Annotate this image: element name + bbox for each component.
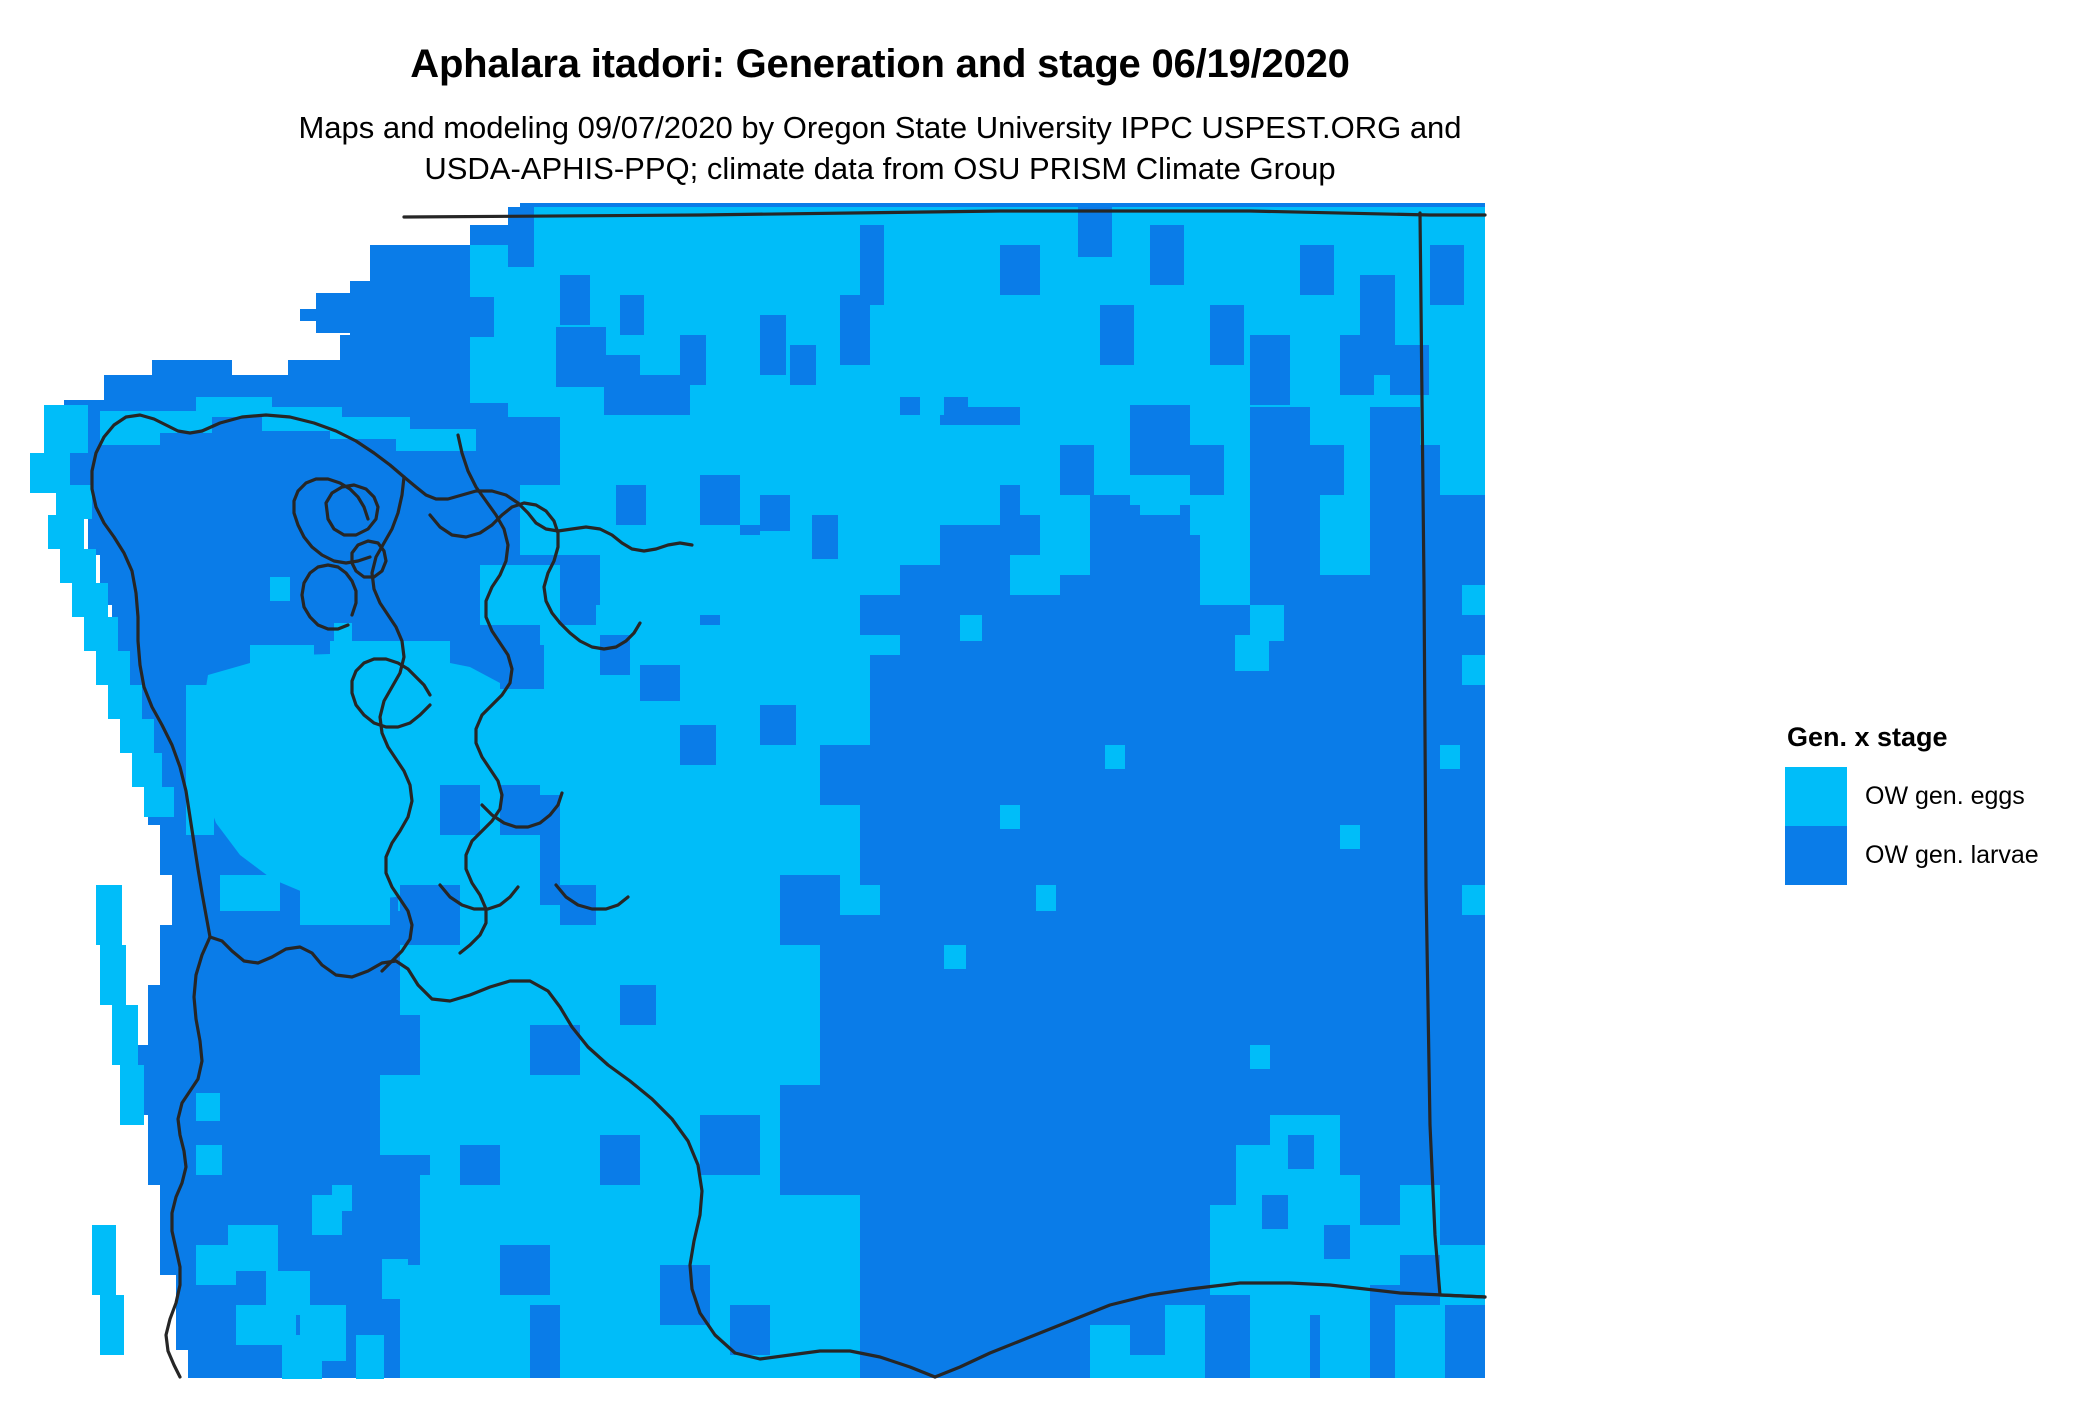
legend-keys: OW gen. eggs OW gen. larvae bbox=[1785, 767, 2085, 885]
subtitle-line-1: Maps and modeling 09/07/2020 by Oregon S… bbox=[0, 108, 1760, 149]
legend-swatch-ow-gen-eggs bbox=[1785, 767, 1847, 826]
legend-swatch-column bbox=[1785, 767, 1847, 885]
legend-label-column: OW gen. eggs OW gen. larvae bbox=[1865, 767, 2039, 885]
legend-label-ow-gen-larvae: OW gen. larvae bbox=[1865, 826, 2039, 885]
subtitle-line-2: USDA-APHIS-PPQ; climate data from OSU PR… bbox=[0, 149, 1760, 190]
page-subtitle: Maps and modeling 09/07/2020 by Oregon S… bbox=[0, 108, 1760, 190]
legend-label-ow-gen-eggs: OW gen. eggs bbox=[1865, 767, 2039, 826]
legend-swatch-ow-gen-larvae bbox=[1785, 826, 1847, 885]
map-canvas bbox=[0, 185, 1760, 1385]
page-title: Aphalara itadori: Generation and stage 0… bbox=[0, 42, 1760, 86]
legend: Gen. x stage OW gen. eggs OW gen. larvae bbox=[1785, 722, 2085, 885]
title-block: Aphalara itadori: Generation and stage 0… bbox=[0, 0, 1760, 190]
washington-state-map bbox=[0, 185, 1760, 1385]
legend-title: Gen. x stage bbox=[1787, 722, 2085, 753]
